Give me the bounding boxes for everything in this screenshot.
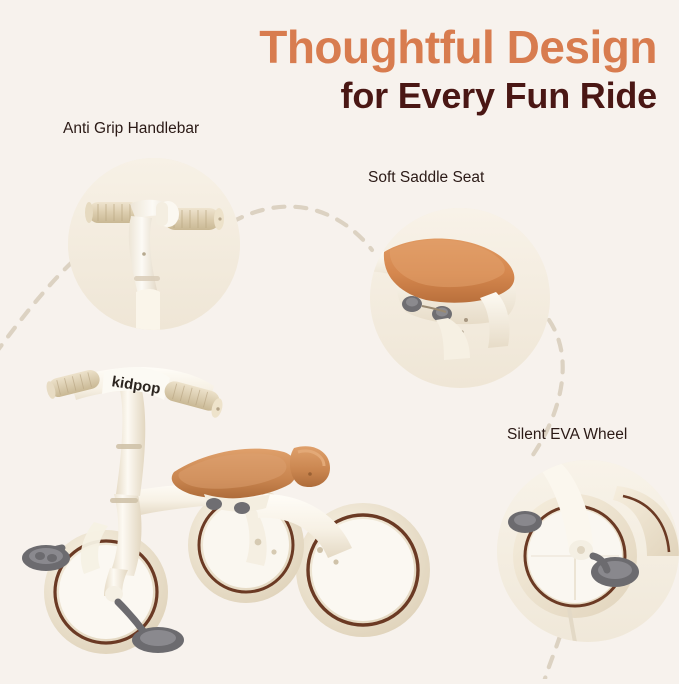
dash-wheel-tail: [542, 636, 560, 679]
pedal-rear: [508, 511, 542, 533]
headline-line-1: Thoughtful Design: [0, 24, 657, 71]
dash-handlebar-to-saddle: [232, 207, 372, 250]
detail-bubble-handlebar: [68, 158, 240, 330]
head-tube-upper: [116, 382, 145, 496]
detail-bubble-wheel: [497, 460, 679, 642]
product-hero-image: kidpop: [18, 352, 458, 667]
callout-label-wheel: Silent EVA Wheel: [507, 426, 627, 444]
headline-line-2: for Every Fun Ride: [0, 75, 657, 116]
callout-label-handlebar: Anti Grip Handlebar: [63, 120, 199, 138]
pedal-left: [22, 545, 70, 571]
headline-block: Thoughtful Design for Every Fun Ride: [0, 24, 679, 116]
infographic-canvas: Thoughtful Design for Every Fun Ride Ant…: [0, 0, 679, 679]
callout-label-saddle: Soft Saddle Seat: [368, 169, 484, 187]
